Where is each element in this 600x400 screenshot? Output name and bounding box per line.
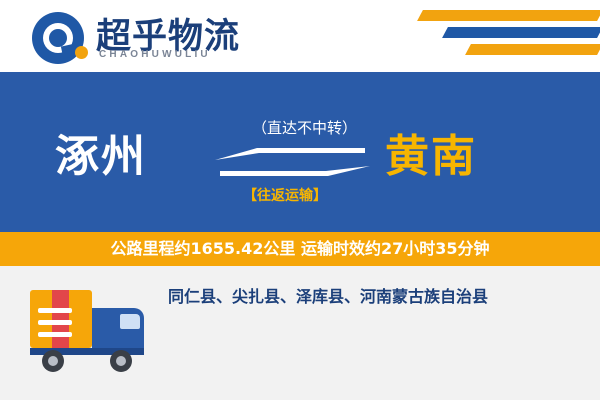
- speed-stripes-icon: [370, 6, 600, 66]
- brand-name-en: CHAOHUWULIU: [99, 49, 211, 60]
- route-panel: 涿州 （直达不中转） 【往返运输】 黄南: [0, 72, 600, 232]
- header: 超乎物流 CHAOHUWULIU: [0, 0, 600, 72]
- origin-city: 涿州: [55, 120, 147, 184]
- delivery-truck-icon: [24, 278, 164, 388]
- distance-duration-bar: 公路里程约1655.42公里 运输时效约27小时35分钟: [0, 232, 600, 266]
- round-trip-label: 【往返运输】: [243, 185, 327, 205]
- coverage-area-text: 同仁县、尖扎县、泽库县、河南蒙古族自治县: [168, 286, 578, 308]
- direct-service-label: （直达不中转）: [252, 117, 357, 138]
- destination-city: 黄南: [385, 120, 477, 184]
- logistics-route-poster: 超乎物流 CHAOHUWULIU 涿州 （直达不中转） 【往返运输】 黄南 公路…: [0, 0, 600, 400]
- logo-accent-dot-icon: [75, 46, 88, 59]
- distance-duration-text: 公路里程约1655.42公里 运输时效约27小时35分钟: [0, 232, 600, 266]
- coverage-panel: 同仁县、尖扎县、泽库县、河南蒙古族自治县: [0, 266, 600, 400]
- double-arrow-icon: [215, 146, 370, 176]
